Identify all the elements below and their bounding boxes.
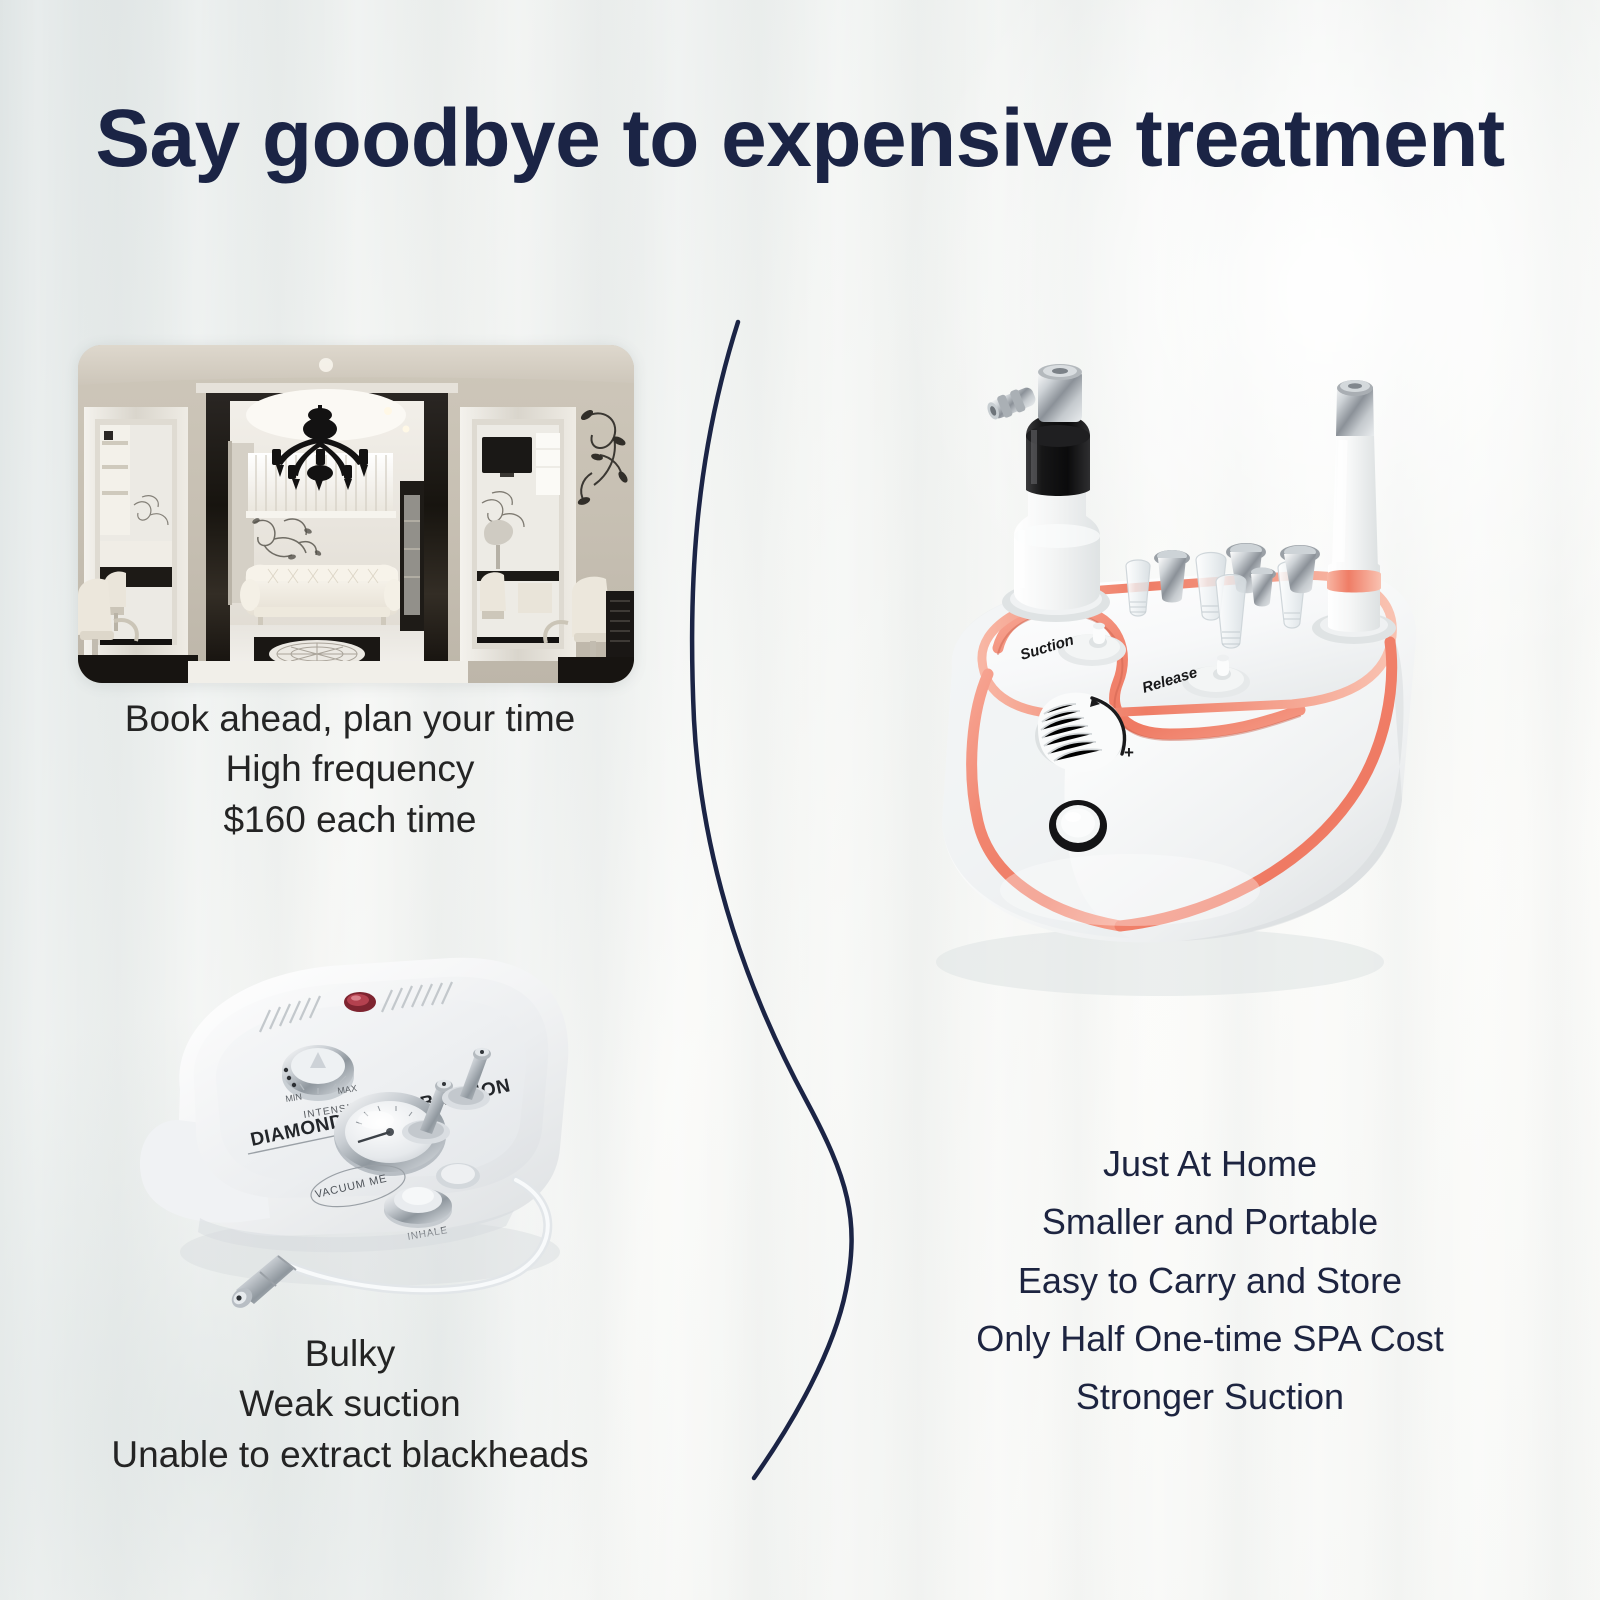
salon-caption-line-1: Book ahead, plan your time [60,695,640,742]
old-dermabrasion-machine-illustration: MIN MAX INTENSITY DIAMOND DERMABRASION [120,880,600,1320]
benefit-line-5: Stronger Suction [930,1368,1490,1426]
old-device-image: MIN MAX INTENSITY DIAMOND DERMABRASION [120,880,600,1320]
benefit-line-3: Easy to Carry and Store [930,1252,1490,1310]
benefits-list: Just At Home Smaller and Portable Easy t… [930,1135,1490,1427]
drawback-line-3: Unable to extract blackheads [60,1431,640,1478]
salon-caption: Book ahead, plan your time High frequenc… [60,695,640,846]
knob-plus-label: + [1124,743,1134,762]
poster-root: Say goodbye to expensive treatment [0,0,1600,1600]
power-button [1049,800,1107,852]
benefit-line-4: Only Half One-time SPA Cost [930,1310,1490,1368]
benefit-line-1: Just At Home [930,1135,1490,1193]
page-title: Say goodbye to expensive treatment [0,96,1600,182]
new-device-image: Suction Release [830,330,1470,1030]
benefit-line-2: Smaller and Portable [930,1193,1490,1251]
filter-bottle-accessory [984,364,1110,622]
drawbacks-caption: Bulky Weak suction Unable to extract bla… [60,1330,640,1481]
salon-caption-line-2: High frequency [60,745,640,792]
drawback-line-2: Weak suction [60,1380,640,1427]
salon-interior-illustration [78,345,634,683]
salon-caption-line-3: $160 each time [60,796,640,843]
drawback-line-1: Bulky [60,1330,640,1377]
salon-interior-photo [78,345,634,683]
new-microdermabrasion-machine-illustration: Suction Release [830,330,1470,1030]
